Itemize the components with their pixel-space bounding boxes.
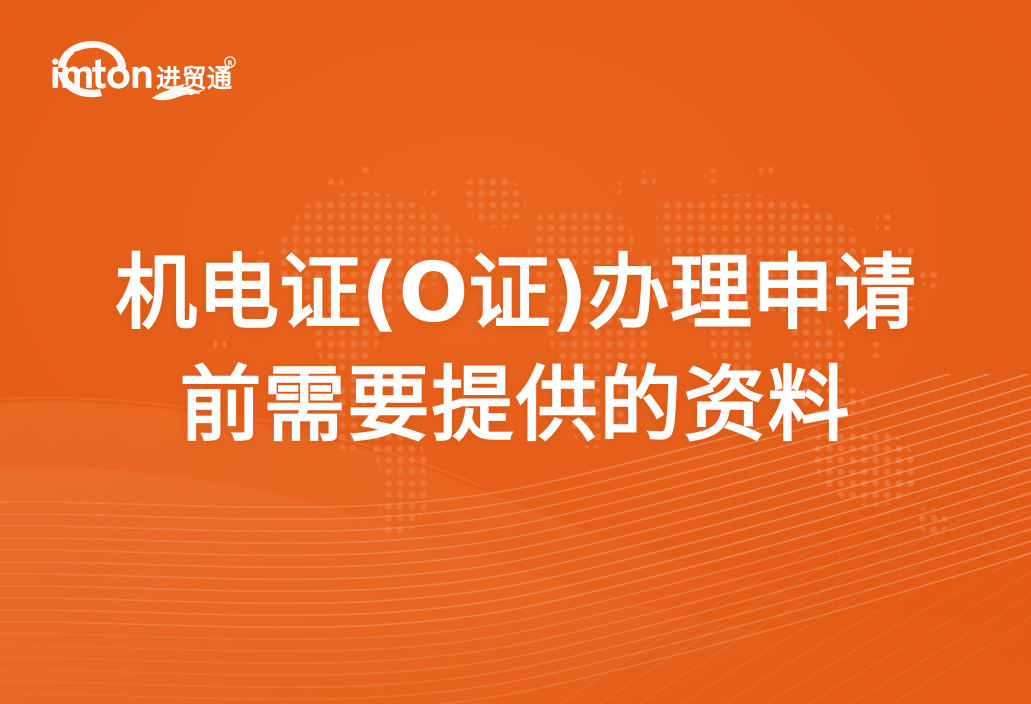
svg-text:进贸通: 进贸通 <box>156 64 233 93</box>
brand-logo[interactable]: 进贸通 R <box>40 28 240 108</box>
registered-trademark-icon: R <box>225 57 235 68</box>
svg-text:R: R <box>227 59 232 67</box>
title-line-1: 机电证(O证)办理申请 <box>0 238 1031 350</box>
logo-chinese-name: 进贸通 <box>156 64 233 93</box>
poster-canvas: 进贸通 R 机电证(O证)办理申请 前需要提供的资料 <box>0 0 1031 704</box>
page-title: 机电证(O证)办理申请 前需要提供的资料 <box>0 238 1031 461</box>
title-line-2: 前需要提供的资料 <box>0 350 1031 462</box>
